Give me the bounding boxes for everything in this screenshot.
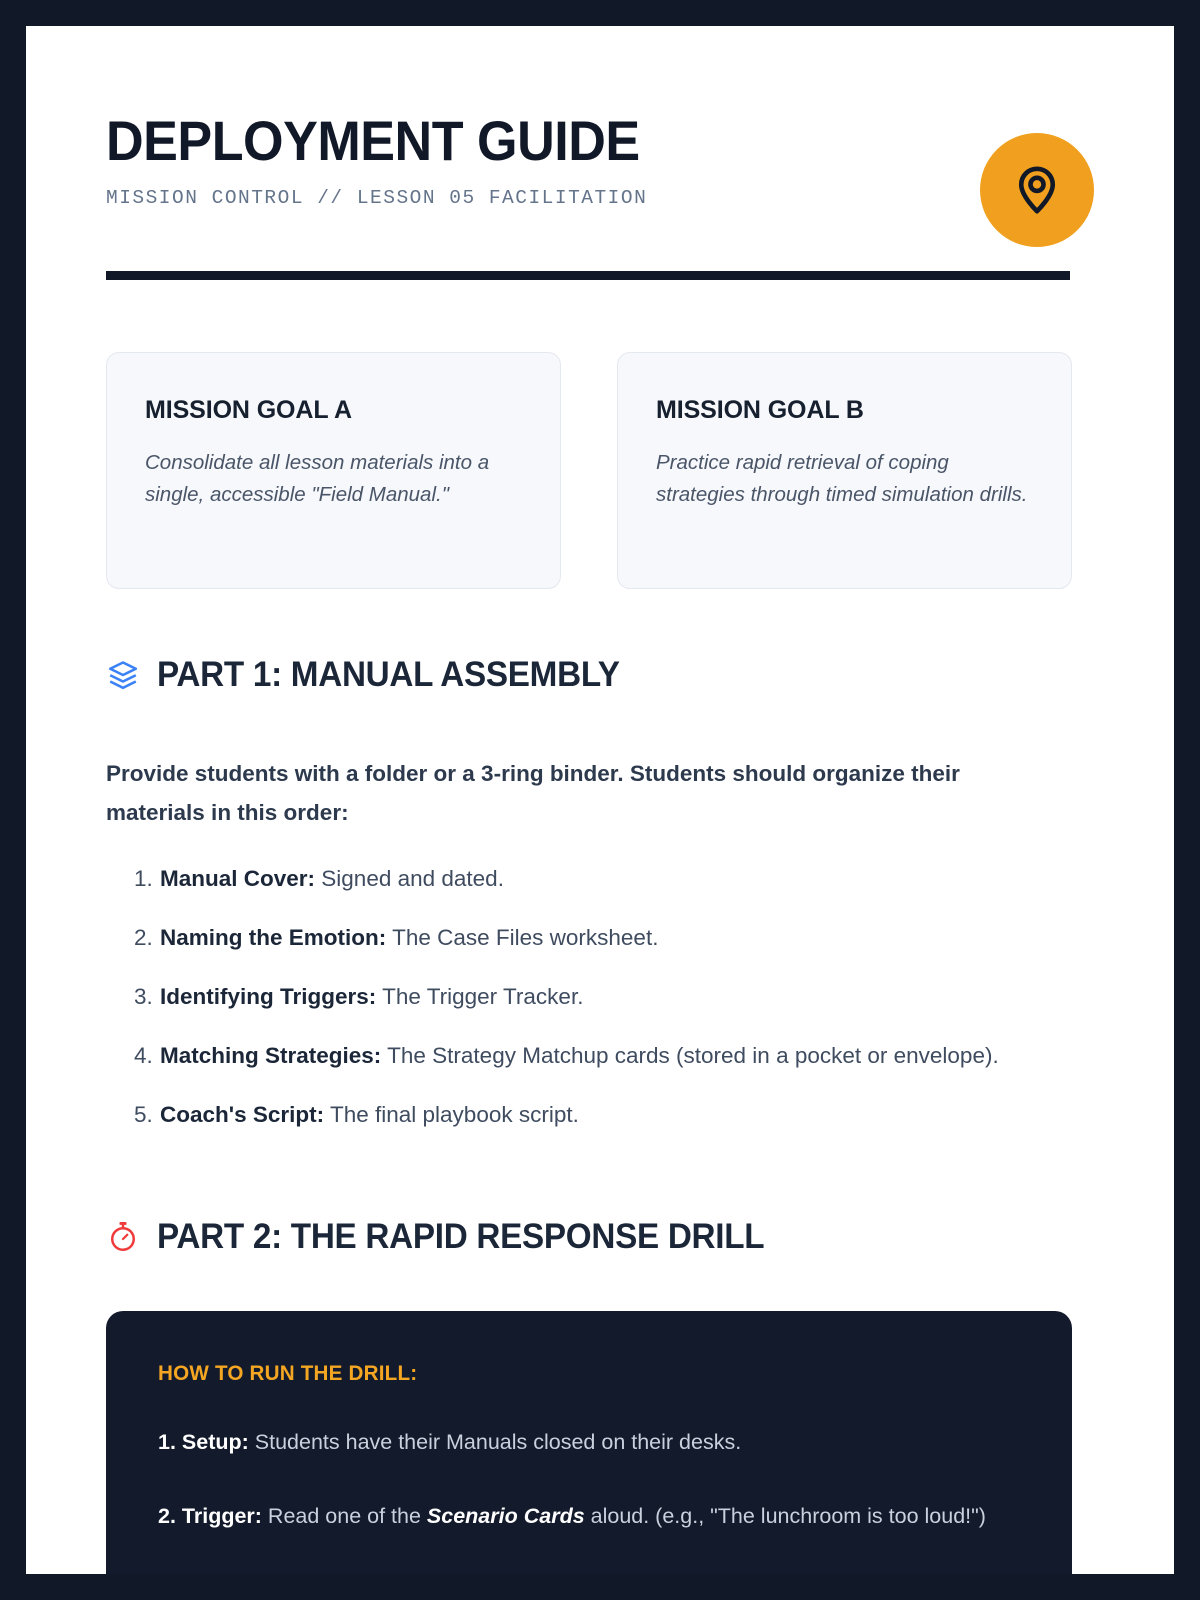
part1-heading-row: PART 1: MANUAL ASSEMBLY	[106, 654, 644, 696]
page-subtitle: MISSION CONTROL // LESSON 05 FACILITATIO…	[106, 185, 680, 211]
mission-goal-b-body: Practice rapid retrieval of coping strat…	[656, 447, 1033, 511]
mission-goal-a-title: MISSION GOAL A	[145, 395, 522, 425]
list-item: 4.Matching Strategies: The Strategy Matc…	[106, 1036, 1086, 1075]
drill-instructions-box: HOW TO RUN THE DRILL: 1. Setup: Students…	[106, 1311, 1072, 1574]
stopwatch-icon-glyph	[108, 1220, 138, 1254]
list-item-label: Coach's Script:	[160, 1102, 324, 1127]
list-item-label: Naming the Emotion:	[160, 925, 386, 950]
part2-heading-row: PART 2: THE RAPID RESPONSE DRILL	[106, 1216, 796, 1258]
mission-goal-card-a: MISSION GOAL A Consolidate all lesson ma…	[106, 352, 561, 589]
logo-badge	[980, 133, 1094, 247]
manual-assembly-list: 1.Manual Cover: Signed and dated. 2.Nami…	[106, 859, 1086, 1154]
drill-box-heading: HOW TO RUN THE DRILL:	[158, 1359, 986, 1387]
list-item-number: 2.	[134, 918, 153, 957]
mission-goal-cards: MISSION GOAL A Consolidate all lesson ma…	[106, 352, 1072, 589]
list-item-text: Signed and dated.	[315, 866, 504, 891]
list-item-text: The Case Files worksheet.	[386, 925, 658, 950]
drill-step-1-label: 1. Setup:	[158, 1430, 249, 1454]
drill-step-2-text-before: Read one of the	[262, 1504, 427, 1528]
drill-step-2: 2. Trigger: Read one of the Scenario Car…	[158, 1497, 1020, 1535]
list-item-text: The Strategy Matchup cards (stored in a …	[381, 1043, 998, 1068]
mission-goal-card-b: MISSION GOAL B Practice rapid retrieval …	[617, 352, 1072, 589]
list-item-number: 3.	[134, 977, 153, 1016]
list-item: 5.Coach's Script: The final playbook scr…	[106, 1095, 1086, 1134]
list-item-label: Manual Cover:	[160, 866, 315, 891]
layers-icon	[106, 656, 140, 694]
part1-intro-paragraph: Provide students with a folder or a 3-ri…	[106, 754, 1056, 832]
list-item-text: The Trigger Tracker.	[376, 984, 583, 1009]
mission-goal-a-body: Consolidate all lesson materials into a …	[145, 447, 522, 511]
list-item-text: The final playbook script.	[324, 1102, 579, 1127]
header-text-block: DEPLOYMENT GUIDE MISSION CONTROL // LESS…	[106, 111, 680, 211]
page-title: DEPLOYMENT GUIDE	[106, 111, 640, 171]
mission-goal-b-title: MISSION GOAL B	[656, 395, 1033, 425]
map-pin-icon	[1010, 163, 1064, 217]
list-item-number: 5.	[134, 1095, 153, 1134]
drill-step-1-text: Students have their Manuals closed on th…	[249, 1430, 741, 1454]
part2-heading: PART 2: THE RAPID RESPONSE DRILL	[157, 1216, 764, 1258]
list-item: 2.Naming the Emotion: The Case Files wor…	[106, 918, 1086, 957]
list-item: 3.Identifying Triggers: The Trigger Trac…	[106, 977, 1086, 1016]
list-item-label: Matching Strategies:	[160, 1043, 381, 1068]
layers-icon-glyph	[107, 659, 139, 691]
document-header: DEPLOYMENT GUIDE MISSION CONTROL // LESS…	[106, 111, 1094, 241]
drill-step-2-text-after: aloud. (e.g., "The lunchroom is too loud…	[585, 1504, 986, 1528]
list-item-number: 4.	[134, 1036, 153, 1075]
document-page: DEPLOYMENT GUIDE MISSION CONTROL // LESS…	[26, 26, 1174, 1574]
drill-step-1: 1. Setup: Students have their Manuals cl…	[158, 1423, 1020, 1461]
header-divider	[106, 271, 1070, 280]
drill-step-2-emphasis: Scenario Cards	[427, 1504, 585, 1528]
list-item-number: 1.	[134, 859, 153, 898]
list-item: 1.Manual Cover: Signed and dated.	[106, 859, 1086, 898]
list-item-label: Identifying Triggers:	[160, 984, 376, 1009]
drill-step-2-label: 2. Trigger:	[158, 1504, 262, 1528]
part1-heading: PART 1: MANUAL ASSEMBLY	[157, 654, 620, 696]
stopwatch-icon	[106, 1218, 140, 1256]
